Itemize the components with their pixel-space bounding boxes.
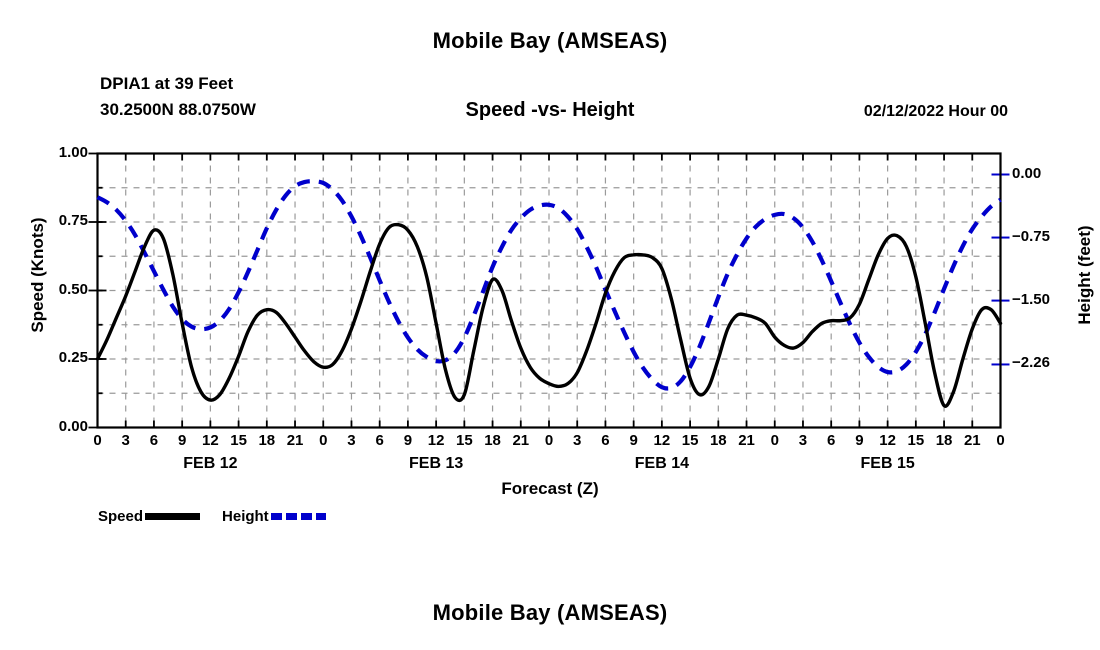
forecast-chart-figure: Mobile Bay (AMSEAS) DPIA1 at 39 Feet 30.… <box>0 0 1100 650</box>
y-tick-label-speed: 0.75 <box>59 212 88 229</box>
x-tick-label: 6 <box>150 432 158 449</box>
x-tick-label: 6 <box>827 432 835 449</box>
x-tick-label: 21 <box>287 432 304 449</box>
x-tick-label: 12 <box>654 432 671 449</box>
y-tick-label-height: 0.00 <box>1012 165 1041 182</box>
y-tick-label-speed: 0.00 <box>59 418 88 435</box>
legend-label-height: Height <box>222 508 269 525</box>
x-tick-label: 3 <box>122 432 130 449</box>
y-tick-label-speed: 0.50 <box>59 281 88 298</box>
legend-entry-height: Height <box>222 508 326 525</box>
x-tick-label: 3 <box>347 432 355 449</box>
y-tick-label-speed: 1.00 <box>59 144 88 161</box>
x-tick-label: 0 <box>93 432 101 449</box>
x-tick-label: 15 <box>230 432 247 449</box>
x-tick-label: 0 <box>771 432 779 449</box>
x-tick-label: 12 <box>202 432 219 449</box>
x-tick-label: 21 <box>738 432 755 449</box>
legend-entry-speed: Speed <box>98 508 200 525</box>
x-tick-label: 9 <box>178 432 186 449</box>
x-tick-label: 6 <box>376 432 384 449</box>
height-series-line <box>98 181 1001 388</box>
x-tick-label: 9 <box>629 432 637 449</box>
chart-legend: Speed Height <box>98 508 326 525</box>
x-tick-label: 21 <box>512 432 529 449</box>
x-tick-label: 0 <box>996 432 1004 449</box>
plot-canvas <box>0 0 1100 650</box>
legend-swatch-height-icon <box>271 513 326 520</box>
x-tick-label: 9 <box>404 432 412 449</box>
x-tick-label: 9 <box>855 432 863 449</box>
x-tick-label: 18 <box>258 432 275 449</box>
x-tick-label: 15 <box>908 432 925 449</box>
legend-swatch-speed-icon <box>145 513 200 520</box>
x-tick-label: 6 <box>601 432 609 449</box>
x-tick-label: 12 <box>879 432 896 449</box>
x-tick-label: 18 <box>710 432 727 449</box>
legend-label-speed: Speed <box>98 508 143 525</box>
y-tick-label-speed: 0.25 <box>59 349 88 366</box>
x-tick-label: 18 <box>484 432 501 449</box>
x-axis-day-label: FEB 14 <box>635 455 689 473</box>
x-tick-label: 0 <box>545 432 553 449</box>
x-tick-label: 3 <box>799 432 807 449</box>
x-tick-label: 15 <box>456 432 473 449</box>
y-tick-label-height: −0.75 <box>1012 228 1050 245</box>
y-tick-label-height: −1.50 <box>1012 291 1050 308</box>
chart-title-bottom: Mobile Bay (AMSEAS) <box>0 600 1100 626</box>
x-tick-label: 3 <box>573 432 581 449</box>
x-axis-day-label: FEB 15 <box>861 455 915 473</box>
x-tick-label: 21 <box>964 432 981 449</box>
y-tick-label-height: −2.26 <box>1012 354 1050 371</box>
x-tick-label: 15 <box>682 432 699 449</box>
x-tick-label: 18 <box>936 432 953 449</box>
x-axis-day-label: FEB 13 <box>409 455 463 473</box>
x-tick-label: 12 <box>428 432 445 449</box>
x-axis-day-label: FEB 12 <box>183 455 237 473</box>
x-tick-label: 0 <box>319 432 327 449</box>
